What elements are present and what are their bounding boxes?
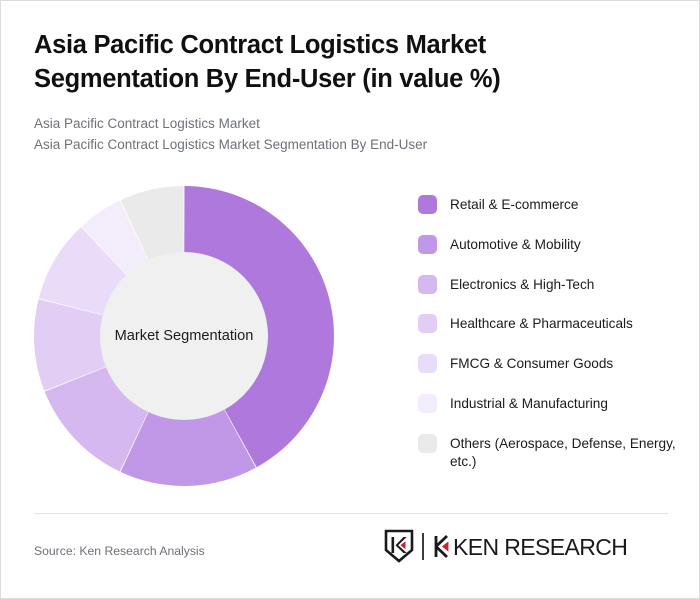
chart-legend: Retail & E-commerceAutomotive & Mobility… xyxy=(418,195,678,472)
legend-item-label: Retail & E-commerce xyxy=(450,195,578,215)
subtitle-line-1: Asia Pacific Contract Logistics Market xyxy=(34,114,654,135)
legend-item-label: Automotive & Mobility xyxy=(450,235,581,255)
subtitle-line-2: Asia Pacific Contract Logistics Market S… xyxy=(34,135,654,156)
legend-swatch xyxy=(418,235,437,254)
legend-item[interactable]: Automotive & Mobility xyxy=(418,235,678,255)
legend-swatch xyxy=(418,354,437,373)
legend-item[interactable]: FMCG & Consumer Goods xyxy=(418,354,678,374)
legend-item[interactable]: Electronics & High-Tech xyxy=(418,275,678,295)
ken-research-wordmark: KEN RESEARCH xyxy=(433,533,666,560)
brand-logo: KEN RESEARCH xyxy=(384,529,666,563)
legend-item[interactable]: Others (Aerospace, Defense, Energy, etc.… xyxy=(418,434,678,472)
legend-item[interactable]: Retail & E-commerce xyxy=(418,195,678,215)
footer-divider xyxy=(34,513,668,514)
legend-swatch xyxy=(418,314,437,333)
chart-area: Market Segmentation Retail & E-commerceA… xyxy=(1,169,700,505)
legend-item-label: FMCG & Consumer Goods xyxy=(450,354,613,374)
chart-card: Asia Pacific Contract Logistics Market S… xyxy=(0,0,700,599)
donut-center-label: Market Segmentation xyxy=(115,328,254,344)
source-note: Source: Ken Research Analysis xyxy=(34,544,205,558)
legend-swatch xyxy=(418,275,437,294)
donut-chart: Market Segmentation xyxy=(34,186,334,486)
legend-item-label: Electronics & High-Tech xyxy=(450,275,594,295)
ken-research-shield-icon xyxy=(384,529,414,563)
breadcrumb: Asia Pacific Contract Logistics Market A… xyxy=(34,114,654,156)
legend-item-label: Industrial & Manufacturing xyxy=(450,394,608,414)
legend-item-label: Healthcare & Pharmaceuticals xyxy=(450,314,633,334)
legend-item-label: Others (Aerospace, Defense, Energy, etc.… xyxy=(450,434,678,472)
donut-chart-svg: Market Segmentation xyxy=(34,186,334,486)
legend-swatch xyxy=(418,434,437,453)
chart-header: Asia Pacific Contract Logistics Market S… xyxy=(34,29,654,155)
legend-item[interactable]: Industrial & Manufacturing xyxy=(418,394,678,414)
brand-divider xyxy=(422,533,424,560)
legend-swatch xyxy=(418,195,437,214)
brand-wordmark-text: KEN RESEARCH xyxy=(453,534,627,560)
legend-item[interactable]: Healthcare & Pharmaceuticals xyxy=(418,314,678,334)
legend-swatch xyxy=(418,394,437,413)
page-title: Asia Pacific Contract Logistics Market S… xyxy=(34,29,654,97)
